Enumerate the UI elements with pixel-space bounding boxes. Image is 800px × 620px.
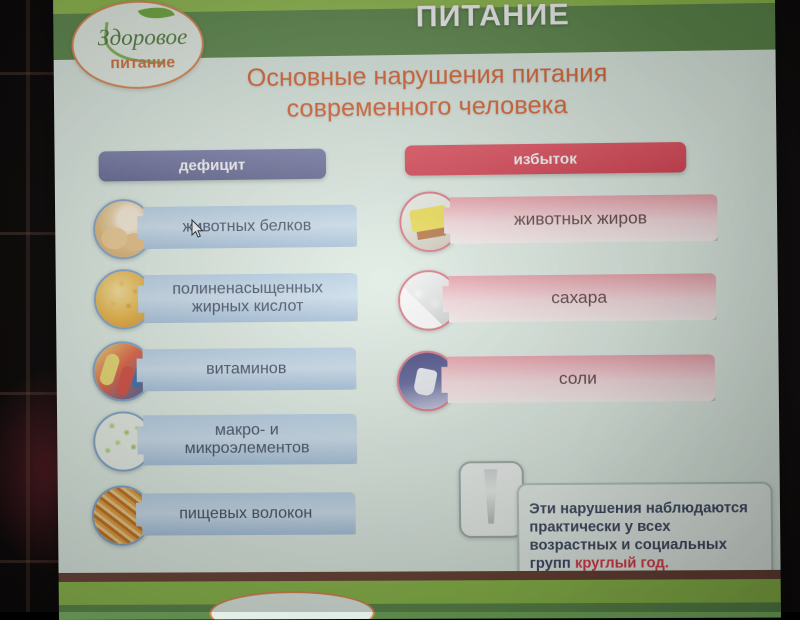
list-item-bar[interactable]: пищевых волокон [136, 492, 356, 535]
footnote-line-1: Эти нарушения наблюдаются [529, 500, 748, 517]
list-item-bar[interactable]: животных жиров [444, 194, 718, 244]
presentation-slide: ПИТАНИЕ Здоровое питание Основные наруше… [53, 0, 781, 620]
list-item-label: сахара [443, 287, 717, 309]
column-header-excess[interactable]: избыток [405, 142, 687, 176]
list-item-bar[interactable]: полиненасыщенных жирных кислот [138, 273, 358, 323]
footnote-line-2: практически у всех [529, 519, 670, 536]
footnote-line-4-prefix: групп [530, 556, 575, 572]
list-item-label-line2: микроэлементов [137, 439, 357, 459]
list-item-bar[interactable]: сахара [443, 273, 717, 322]
footer-olive-band [59, 602, 781, 620]
projection-screen: ПИТАНИЕ Здоровое питание Основные наруше… [53, 0, 781, 620]
list-item-bar[interactable]: макро- и микроэлементов [137, 414, 357, 466]
page-title-line-1: Основные нарушения питания [247, 59, 608, 92]
slide-header-title: ПИТАНИЕ [416, 0, 753, 35]
list-item-label: соли [441, 368, 715, 390]
list-item-bar[interactable]: соли [441, 354, 715, 403]
list-item-label: витаминов [137, 359, 357, 379]
glass-thumbnail [459, 461, 525, 538]
list-item-bar[interactable]: животных белков [137, 205, 357, 250]
glass-icon [482, 469, 500, 524]
list-item-label-line1: макро- и [137, 420, 357, 440]
footnote-text: Эти нарушения наблюдаются практически у … [519, 484, 772, 574]
logo-script-text: Здоровое [87, 24, 198, 52]
column-header-excess-label: избыток [513, 150, 577, 168]
shelf-post [26, 0, 30, 612]
column-header-deficit-label: дефицит [179, 156, 246, 174]
list-item-bar[interactable]: витаминов [137, 347, 357, 391]
page-title: Основные нарушения питания современного … [164, 57, 692, 126]
list-item-label: животных белков [137, 216, 357, 237]
list-item-label: пищевых волокон [136, 504, 356, 524]
page-title-line-2: современного человека [164, 88, 692, 126]
list-item-label: животных жиров [444, 208, 718, 231]
list-item-label-line2: жирных кислот [138, 297, 358, 318]
column-header-deficit[interactable]: дефицит [99, 149, 327, 182]
footnote-highlight: круглый год. [575, 555, 669, 572]
list-item-label-line1: полиненасыщенных [138, 279, 358, 300]
footnote-line-3: возрастных и социальных [529, 537, 727, 554]
